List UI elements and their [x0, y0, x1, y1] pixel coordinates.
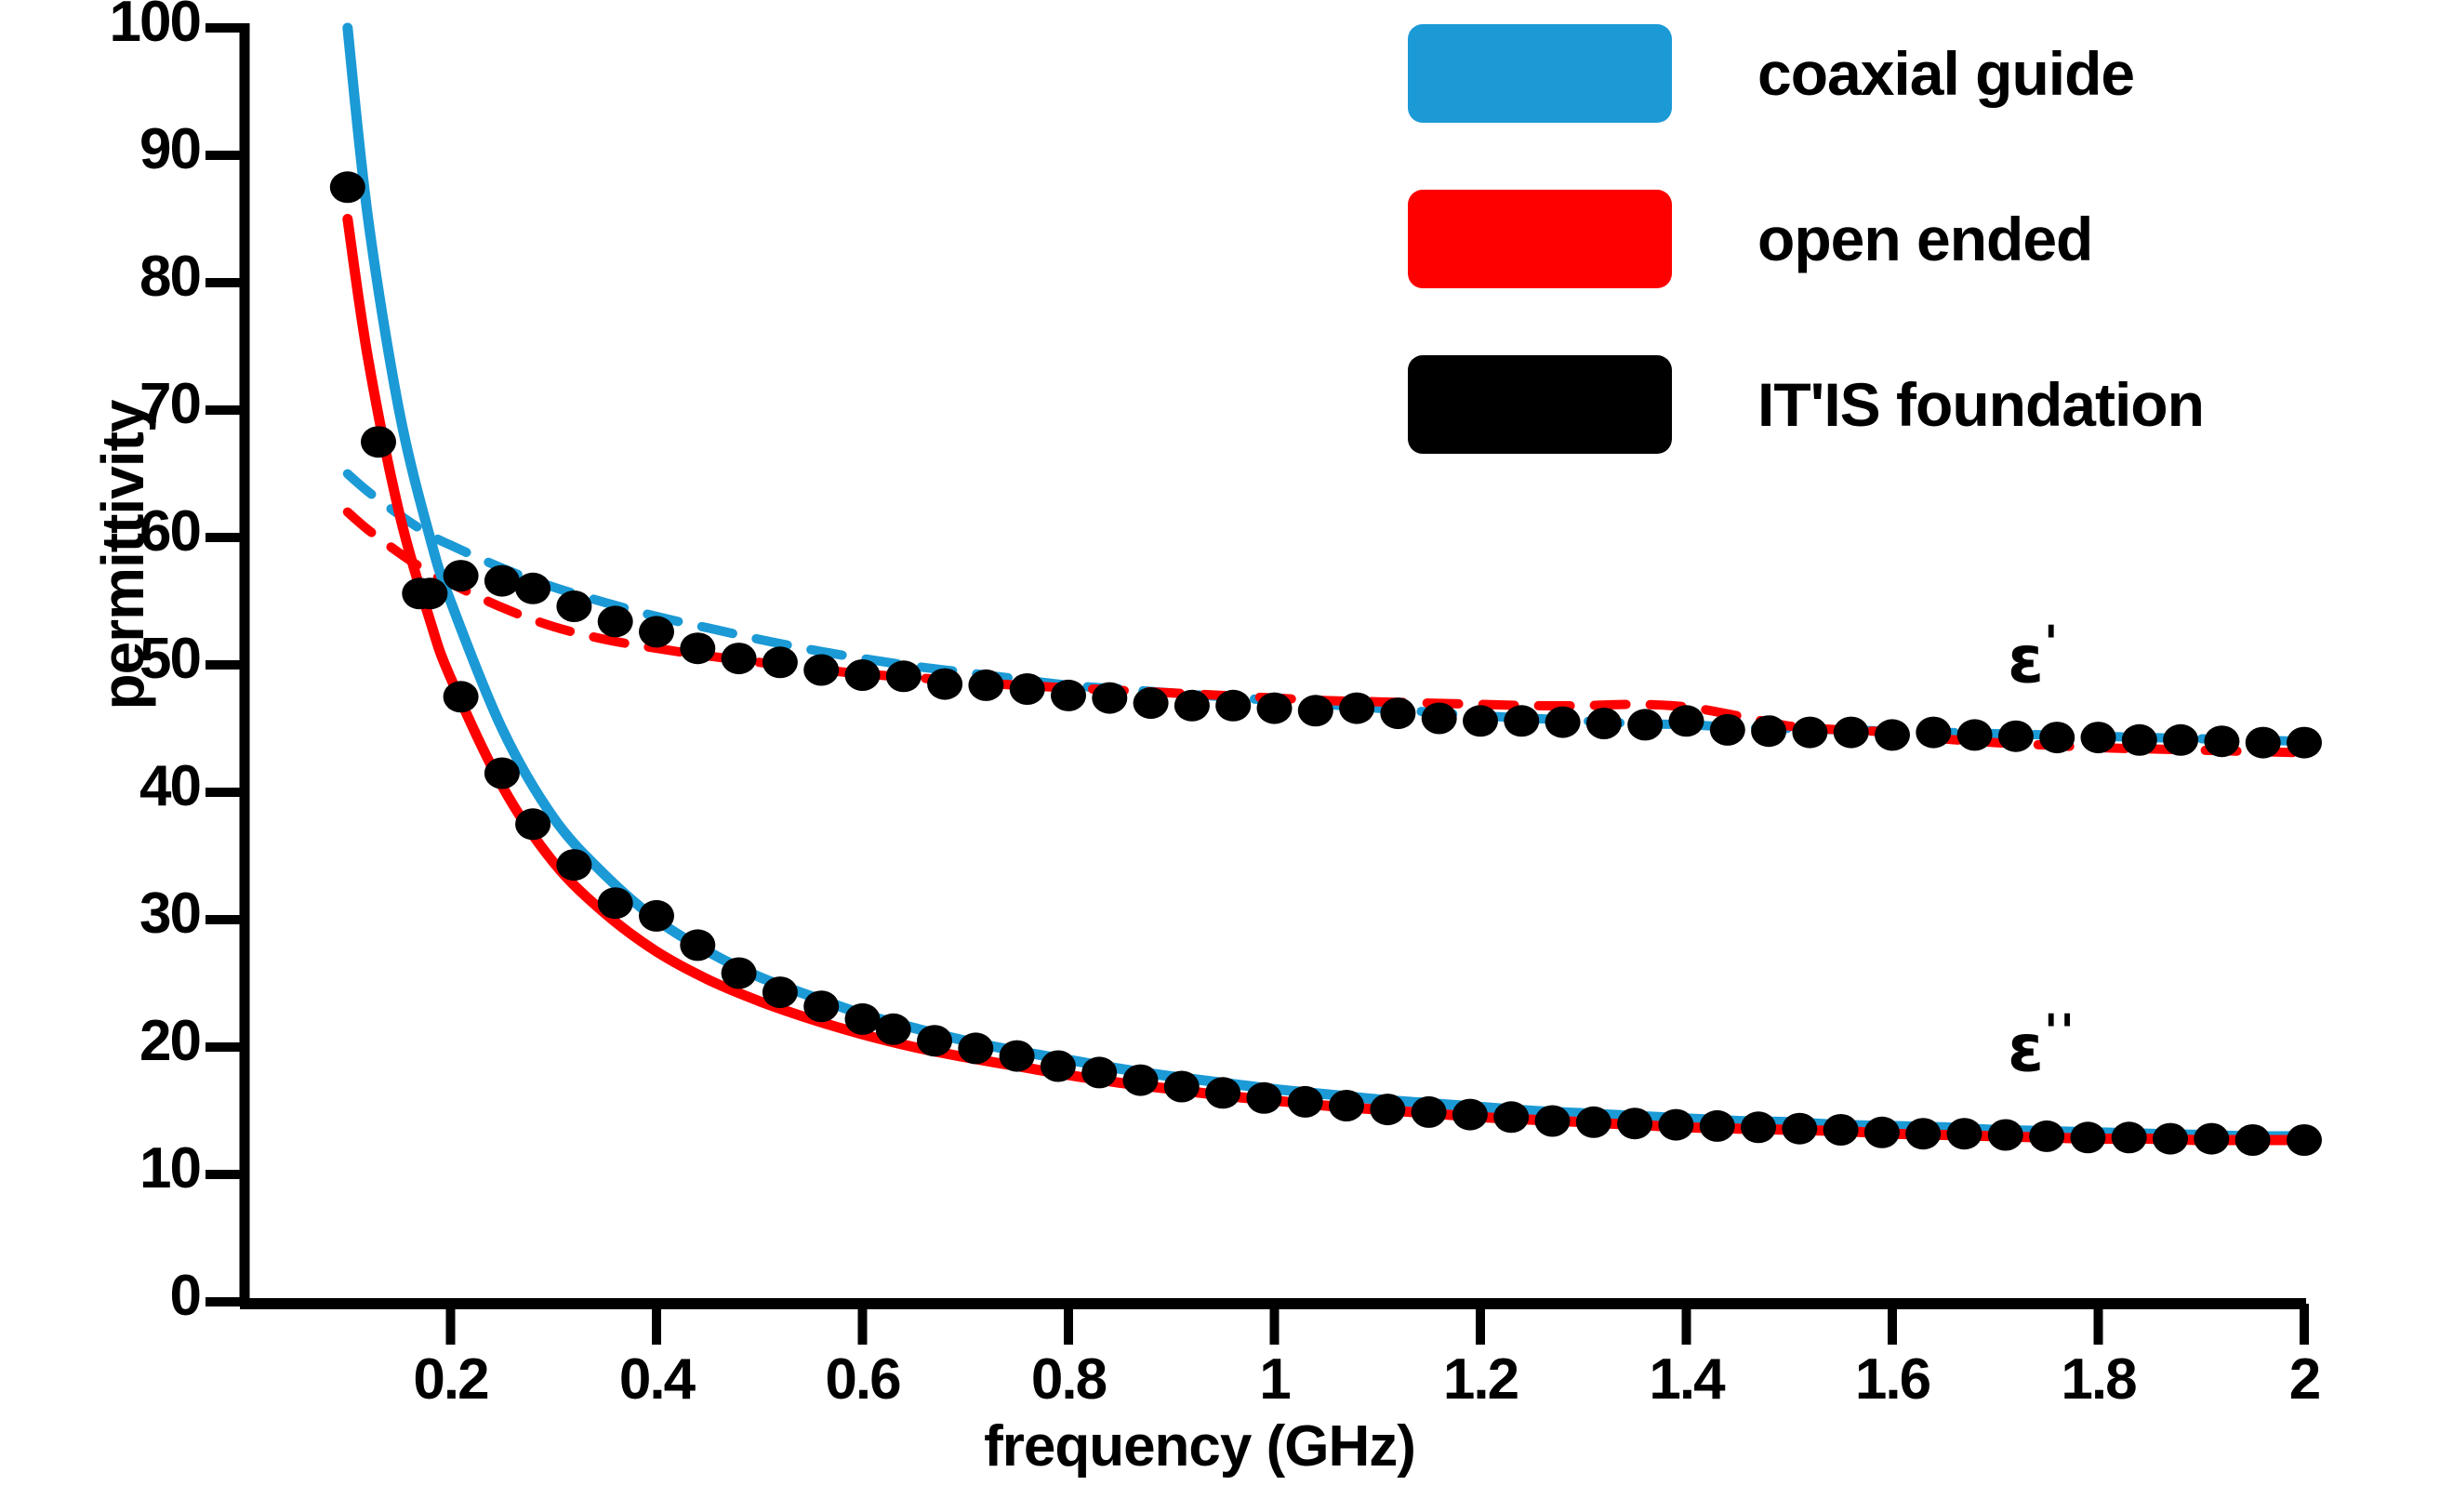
y-tick-label: 40 [33, 753, 200, 819]
data-point [1782, 1113, 1817, 1145]
data-point [722, 643, 757, 674]
epsilon-real-annotation: ε' [2008, 616, 2060, 697]
data-point [2194, 1123, 2229, 1155]
x-tick-label: 0.6 [770, 1346, 956, 1413]
data-point [484, 758, 520, 789]
data-point [927, 669, 962, 700]
epsilon-imag-dprime: '' [2044, 1004, 2076, 1059]
data-point [556, 849, 591, 881]
data-point [598, 887, 633, 919]
epsilon-imag-annotation: ε'' [2008, 1004, 2076, 1086]
x-tick-label: 2 [2211, 1346, 2397, 1413]
data-point [803, 990, 839, 1022]
data-point [1422, 703, 1457, 735]
y-tick-label: 30 [33, 881, 200, 947]
x-tick-label: 1.2 [1387, 1346, 1573, 1413]
data-point [1792, 717, 1827, 749]
data-point [402, 577, 437, 609]
y-tick-label: 100 [33, 0, 200, 55]
data-point [515, 573, 550, 604]
data-point [330, 171, 365, 203]
data-point [1864, 1117, 1900, 1148]
data-point [1380, 697, 1415, 729]
data-point [444, 560, 479, 591]
data-point [1092, 683, 1127, 714]
y-tick-marks [206, 28, 245, 1302]
data-point [361, 426, 396, 458]
data-point [1123, 1065, 1159, 1096]
y-tick-label: 70 [33, 371, 200, 437]
data-point [2112, 1121, 2147, 1153]
data-point [1998, 721, 2034, 752]
legend: coaxial guide open ended IT'IS foundatio… [1408, 19, 2394, 515]
data-point [1010, 673, 1045, 705]
legend-item-itis-foundation[interactable]: IT'IS foundation [1408, 350, 2394, 459]
data-point [845, 659, 881, 691]
x-tick-label: 1.4 [1594, 1346, 1780, 1413]
data-point [1741, 1111, 1776, 1143]
data-point [1504, 705, 1539, 736]
data-point [1669, 705, 1704, 736]
chart-figure: permittivity frequency (GHz) 01020304050… [0, 0, 2440, 1512]
x-tick-label: 0.2 [358, 1346, 544, 1413]
data-point [1298, 695, 1333, 726]
data-point [598, 605, 633, 637]
data-point [1412, 1096, 1447, 1128]
data-point [803, 655, 839, 686]
data-point [1586, 708, 1622, 739]
legend-label-itis-foundation: IT'IS foundation [1757, 369, 2204, 440]
data-point [1164, 1071, 1200, 1103]
y-tick-label: 20 [33, 1008, 200, 1074]
y-tick-label: 90 [33, 116, 200, 182]
data-point [1205, 1077, 1240, 1108]
epsilon-real-prime: ' [2044, 616, 2060, 670]
data-point [1988, 1120, 2023, 1151]
data-point [2070, 1121, 2105, 1153]
y-tick-label: 60 [33, 498, 200, 564]
data-point [1081, 1056, 1117, 1088]
data-point [1257, 693, 1293, 724]
y-tick-label: 50 [33, 626, 200, 692]
data-point [722, 958, 757, 989]
data-point [1751, 715, 1786, 747]
data-point [1710, 714, 1745, 746]
data-point [1535, 1106, 1571, 1137]
data-point [1246, 1082, 1281, 1114]
data-point [639, 616, 674, 647]
data-point [1905, 1118, 1941, 1149]
data-point [1288, 1086, 1323, 1118]
data-point [958, 1032, 993, 1064]
data-point [2122, 724, 2157, 756]
data-point [1174, 690, 1210, 722]
legend-label-coaxial-guide: coaxial guide [1757, 38, 2134, 109]
legend-label-open-ended: open ended [1757, 204, 2092, 274]
data-point [845, 1003, 881, 1035]
data-point [1545, 707, 1581, 738]
data-point [1576, 1107, 1611, 1138]
legend-swatch-itis-foundation [1408, 355, 1672, 454]
data-point [1051, 680, 1086, 711]
data-point [1134, 687, 1169, 719]
data-point [1493, 1101, 1529, 1133]
data-point [1215, 690, 1251, 722]
data-point [1834, 717, 1869, 749]
data-point [968, 670, 1003, 701]
data-point [639, 900, 674, 932]
y-tick-label: 0 [33, 1263, 200, 1329]
data-point [1617, 1107, 1652, 1139]
data-point [1916, 717, 1951, 749]
data-point [680, 929, 715, 961]
x-tick-label: 0.4 [564, 1346, 749, 1413]
data-point [515, 808, 550, 840]
data-point [444, 681, 479, 712]
data-point [1000, 1041, 1035, 1072]
epsilon-real-symbol: ε [2008, 621, 2044, 697]
data-point [886, 660, 922, 692]
data-point [1957, 719, 1993, 750]
data-point [1329, 1090, 1364, 1121]
legend-swatch-coaxial-guide [1408, 24, 1672, 123]
data-point [1370, 1094, 1405, 1125]
x-tick-label: 1.8 [2006, 1346, 2192, 1413]
data-point [2039, 722, 2075, 753]
legend-item-coaxial-guide[interactable]: coaxial guide [1408, 19, 2394, 128]
data-point [2235, 1124, 2271, 1156]
data-point [556, 590, 591, 622]
data-point [680, 632, 715, 664]
x-axis-label: frequency (GHz) [874, 1413, 1525, 1479]
data-point [1947, 1118, 1982, 1149]
data-point [2204, 725, 2239, 757]
data-point [1627, 709, 1663, 740]
data-point [484, 565, 520, 597]
data-point [1041, 1051, 1076, 1082]
data-point [2081, 722, 2116, 753]
data-point [917, 1025, 952, 1056]
data-point [2246, 727, 2281, 759]
data-point [2287, 1124, 2322, 1156]
y-tick-label: 10 [33, 1135, 200, 1201]
data-point [876, 1014, 911, 1045]
x-tick-label: 1.6 [1799, 1346, 1985, 1413]
x-tick-label: 1 [1182, 1346, 1368, 1413]
data-point [2153, 1123, 2188, 1155]
legend-swatch-open-ended [1408, 190, 1672, 288]
epsilon-imag-symbol: ε [2008, 1010, 2044, 1086]
data-point [1875, 719, 1910, 750]
data-point [762, 646, 798, 678]
x-tick-label: 0.8 [975, 1346, 1161, 1413]
data-point [1658, 1109, 1693, 1141]
data-point [2163, 724, 2198, 756]
data-point [2287, 727, 2322, 759]
data-point [2029, 1121, 2064, 1152]
y-tick-label: 80 [33, 244, 200, 310]
data-point [762, 976, 798, 1008]
data-point [1463, 705, 1498, 736]
data-point [1700, 1110, 1735, 1142]
data-point [1339, 693, 1374, 724]
data-point [1823, 1114, 1859, 1146]
x-tick-marks [451, 1304, 2305, 1345]
data-point [1452, 1099, 1488, 1131]
legend-item-open-ended[interactable]: open ended [1408, 184, 2394, 294]
